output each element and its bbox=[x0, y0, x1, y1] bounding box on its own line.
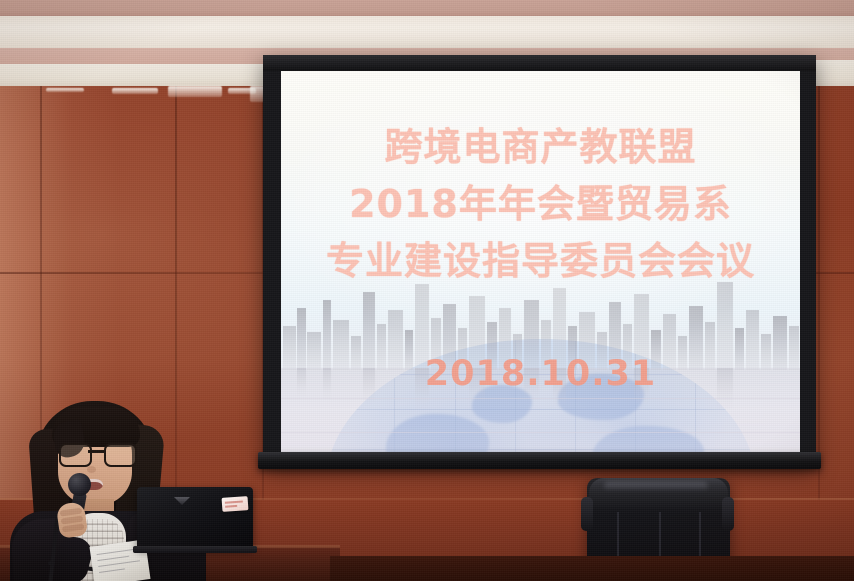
desk-far-section bbox=[330, 556, 854, 581]
eyeglass-lens-left bbox=[59, 443, 92, 467]
conference-room-photo: 跨境电商产教联盟 2018年年会暨贸易系 专业建设指导委员会会议 2018.10… bbox=[0, 0, 854, 581]
laptop-sticker bbox=[222, 496, 249, 512]
slide-title: 跨境电商产教联盟 2018年年会暨贸易系 专业建设指导委员会会议 bbox=[281, 119, 800, 290]
eyeglass-lens-right bbox=[104, 443, 137, 467]
slide-title-line-2: 2018年年会暨贸易系 bbox=[281, 176, 800, 233]
office-chair-arm-right bbox=[722, 497, 734, 531]
projection-screen-top-rail bbox=[263, 55, 816, 71]
laptop-base bbox=[133, 546, 257, 553]
microphone-icon[interactable] bbox=[68, 473, 91, 496]
eyeglasses bbox=[59, 443, 133, 463]
wall-light-reflection bbox=[168, 86, 222, 97]
office-chair-arm-left bbox=[581, 497, 593, 531]
slide-title-line-3: 专业建设指导委员会会议 bbox=[281, 233, 800, 290]
ceiling-beam bbox=[0, 16, 854, 50]
office-chair-highlight bbox=[604, 482, 708, 491]
projection-screen[interactable]: 跨境电商产教联盟 2018年年会暨贸易系 专业建设指导委员会会议 2018.10… bbox=[281, 71, 800, 454]
projection-screen-bottom-bar bbox=[258, 452, 821, 469]
eyeglass-bridge bbox=[88, 450, 104, 453]
wall-light-reflection bbox=[46, 88, 84, 92]
wall-light-reflection bbox=[112, 88, 158, 94]
slide-title-line-1: 跨境电商产教联盟 bbox=[281, 119, 800, 176]
slide-date: 2018.10.31 bbox=[281, 354, 800, 394]
nose bbox=[87, 466, 96, 473]
